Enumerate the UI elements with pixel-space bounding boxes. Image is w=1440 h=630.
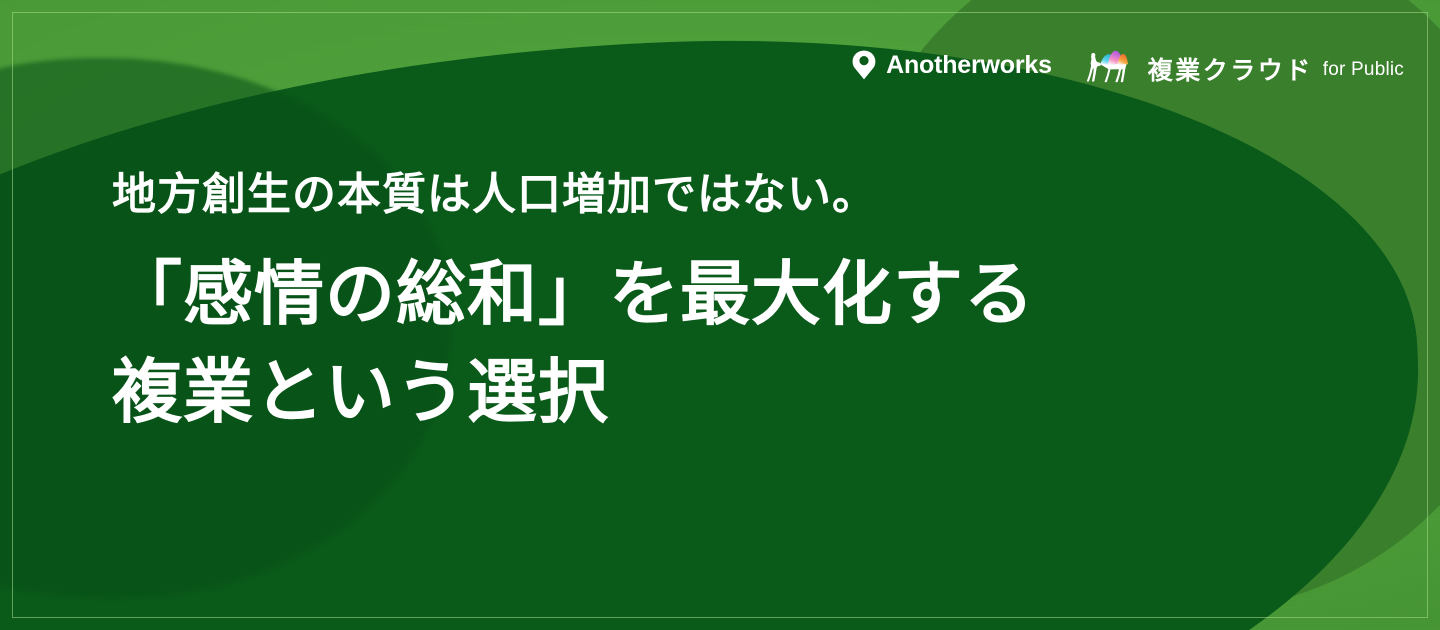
anotherworks-wordmark: Anotherworks (886, 53, 1052, 78)
headline-line-1: 「感情の総和」を最大化する (112, 248, 1035, 340)
fukugyo-cloud-wordmark: 複業クラウド (1148, 59, 1313, 84)
anotherworks-logo[interactable]: Anotherworks (851, 50, 1052, 80)
anotherworks-pin-icon (851, 50, 877, 80)
headline-kicker: 地方創生の本質は人口増加ではない。 (112, 168, 1035, 222)
fukugyo-cloud-suffix: for Public (1323, 56, 1404, 85)
promo-banner: Anotherworks (0, 0, 1440, 630)
logo-bar: Anotherworks (851, 46, 1404, 84)
headline-block: 地方創生の本質は人口増加ではない。 「感情の総和」を最大化する 複業という選択 (112, 168, 1035, 438)
camel-icon (1086, 46, 1138, 84)
headline-line-2: 複業という選択 (112, 346, 1035, 438)
fukugyo-cloud-logo[interactable]: 複業クラウド for Public (1086, 46, 1404, 84)
